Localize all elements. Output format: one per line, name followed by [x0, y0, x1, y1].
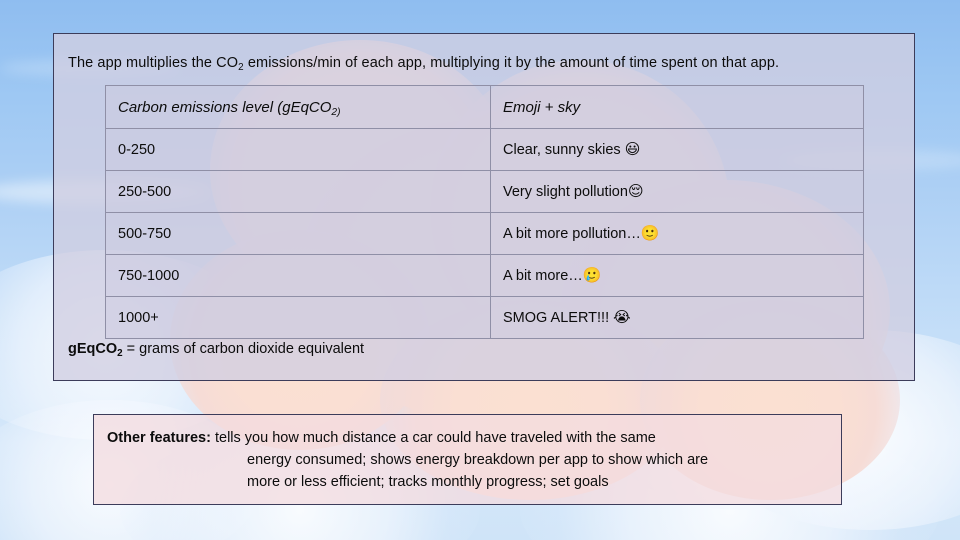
intro-part-1: The app multiplies the CO	[68, 55, 238, 71]
cell-emissions-level: 1000+	[106, 297, 491, 339]
emissions-levels-table: Carbon emissions level (gEqCO2) Emoji + …	[105, 85, 864, 339]
cell-sky-text: Clear, sunny skies	[503, 142, 625, 158]
header-level-text: Carbon emissions level (gEqCO	[118, 99, 331, 116]
header-cell-emoji-sky: Emoji + sky	[491, 86, 864, 129]
relieved-face-icon: 😌	[628, 182, 644, 200]
other-features-body-1: tells you how much distance a car could …	[211, 430, 656, 446]
cell-emoji-sky: SMOG ALERT!!! 😭	[491, 297, 864, 339]
loudly-crying-face-icon: 😭	[613, 308, 631, 326]
cell-emoji-sky: A bit more pollution…🙂	[491, 213, 864, 255]
cell-emoji-sky: Very slight pollution😌	[491, 171, 864, 213]
cell-emissions-level: 250-500	[106, 171, 491, 213]
cell-emoji-sky: A bit more…🥲	[491, 255, 864, 297]
intro-part-2: emissions/min of each app, multiplying i…	[244, 55, 779, 71]
cell-emissions-level: 750-1000	[106, 255, 491, 297]
cell-sky-text: SMOG ALERT!!!	[503, 310, 613, 326]
table-header-row: Carbon emissions level (gEqCO2) Emoji + …	[106, 86, 864, 129]
cell-emoji-sky: Clear, sunny skies 😃	[491, 129, 864, 171]
header-level-subscript: 2)	[331, 106, 340, 117]
cell-emissions-level: 0-250	[106, 129, 491, 171]
table-row: 750-1000 A bit more…🥲	[106, 255, 864, 297]
other-features-line-3: more or less efficient; tracks monthly p…	[107, 471, 831, 493]
abbreviation-footnote: gEqCO2 = grams of carbon dioxide equival…	[68, 341, 364, 357]
table-row: 500-750 A bit more pollution…🙂	[106, 213, 864, 255]
cell-sky-text: Very slight pollution	[503, 184, 628, 200]
other-features-label: Other features:	[107, 430, 211, 446]
grinning-face-with-big-eyes-icon: 😃	[625, 140, 641, 158]
other-features-panel: Other features: tells you how much dista…	[93, 414, 842, 505]
table-row: 0-250 Clear, sunny skies 😃	[106, 129, 864, 171]
footnote-term: gEqCO	[68, 341, 117, 357]
other-features-line-2: energy consumed; shows energy breakdown …	[107, 449, 831, 471]
cell-sky-text: A bit more…	[503, 268, 583, 284]
intro-sentence: The app multiplies the CO2 emissions/min…	[68, 55, 779, 71]
table-row: 1000+ SMOG ALERT!!! 😭	[106, 297, 864, 339]
other-features-text: Other features: tells you how much dista…	[107, 427, 831, 493]
header-cell-level: Carbon emissions level (gEqCO2)	[106, 86, 491, 129]
cell-sky-text: A bit more pollution…	[503, 226, 641, 242]
slide-canvas: The app multiplies the CO2 emissions/min…	[0, 0, 960, 540]
table-row: 250-500 Very slight pollution😌	[106, 171, 864, 213]
smiling-face-with-tear-icon: 🥲	[583, 266, 602, 284]
explanation-panel: The app multiplies the CO2 emissions/min…	[53, 33, 915, 381]
other-features-line-1: Other features: tells you how much dista…	[107, 427, 831, 449]
cell-emissions-level: 500-750	[106, 213, 491, 255]
footnote-definition: = grams of carbon dioxide equivalent	[123, 341, 364, 357]
slightly-smiling-face-icon: 🙂	[641, 224, 660, 242]
